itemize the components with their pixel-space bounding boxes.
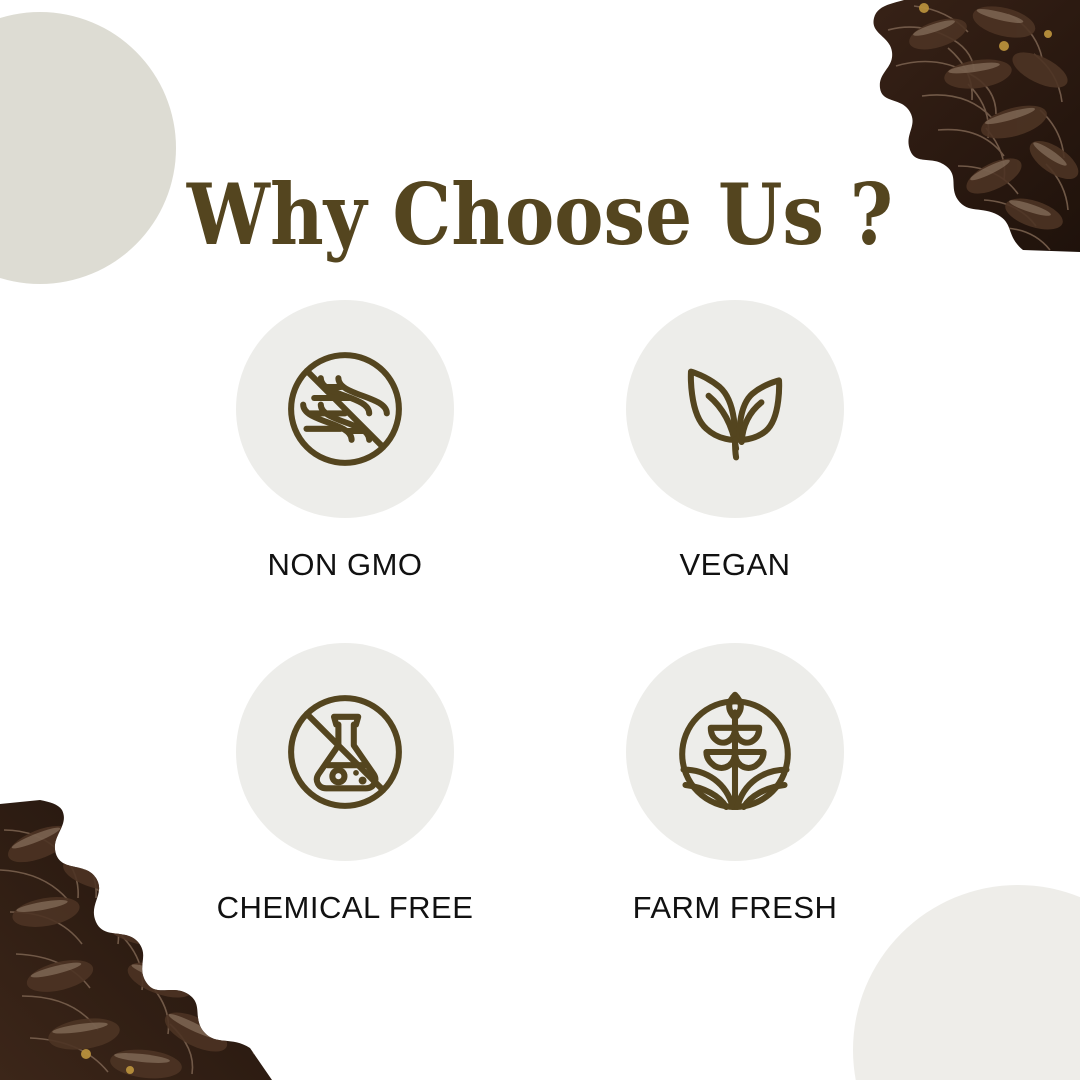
feature-grid: NON GMO VEGAN [150, 300, 930, 926]
feature-non-gmo: NON GMO [150, 300, 540, 583]
two-leaves-icon [669, 343, 801, 475]
no-gmo-dna-icon [279, 343, 411, 475]
feature-icon-badge [236, 643, 454, 861]
no-chemical-flask-icon [279, 686, 411, 818]
feature-label: NON GMO [267, 547, 422, 583]
feature-label: CHEMICAL FREE [217, 890, 474, 926]
feature-icon-badge [626, 300, 844, 518]
feature-icon-badge [626, 643, 844, 861]
feature-icon-badge [236, 300, 454, 518]
feature-vegan: VEGAN [540, 300, 930, 583]
feature-label: FARM FRESH [633, 890, 838, 926]
page-title: Why Choose Us ? [65, 169, 1015, 261]
feature-chemical-free: CHEMICAL FREE [150, 643, 540, 926]
feature-label: VEGAN [679, 547, 790, 583]
farm-field-wheat-icon [669, 686, 801, 818]
why-choose-us-infographic: Why Choose Us ? NON GMO [0, 0, 1080, 1080]
feature-farm-fresh: FARM FRESH [540, 643, 930, 926]
